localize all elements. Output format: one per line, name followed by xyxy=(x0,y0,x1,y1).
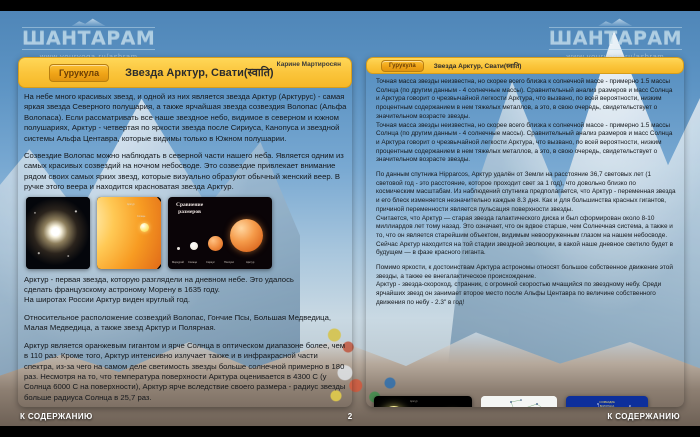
paragraph: Точная масса звезды неизвестна, но скоре… xyxy=(366,122,684,166)
mountain-icon xyxy=(598,18,632,26)
gurukula-button-right[interactable]: Гурукула xyxy=(381,60,424,72)
figure-caption: Относительное расположение созвездий Вол… xyxy=(18,313,352,334)
scale-diagram-canvas: Арктур Солнце xyxy=(97,197,161,269)
sky-chart-svg xyxy=(481,396,557,407)
left-figure-row: Арктур Солнце Сравнение размеров Меркури… xyxy=(18,193,352,269)
arcturus-disc xyxy=(97,197,161,269)
spacer xyxy=(18,306,352,313)
comparison-label-3: Сириус xyxy=(206,261,215,264)
logo-left-wordmark: ШАНТАРАМ xyxy=(22,27,155,50)
caption-line: На широтах России Арктур виден круглый г… xyxy=(18,295,352,305)
table-of-contents-link-left[interactable]: К СОДЕРЖАНИЮ xyxy=(20,412,93,421)
paragraph: Арктур - звезда-скороход, странник, с ог… xyxy=(366,281,684,307)
paragraph: По данным спутника Hipparcos, Арктур уда… xyxy=(366,171,684,215)
comparison-label-5: Арктур xyxy=(246,261,254,264)
paragraph: Считается, что Арктур — старая звезда га… xyxy=(366,215,684,259)
comparison-orb-2 xyxy=(190,242,198,250)
letterbox-bottom xyxy=(0,426,700,437)
paragraph: На небе много красивых звезд, и одной из… xyxy=(18,92,352,144)
paragraph: Арктур является оранжевым гигантом и ярч… xyxy=(18,341,352,403)
left-panel-body: На небе много красивых звезд, и одной из… xyxy=(18,88,352,403)
caption-line: сделать французскому астроному Морену в … xyxy=(18,285,352,295)
comparison-orb-3 xyxy=(208,236,223,251)
figure-size-comparison: Сравнение размеров Меркурий Солнце Сириу… xyxy=(168,197,272,269)
letterbox-top xyxy=(0,0,700,11)
figure-twin-stars: Арктур Солнце xyxy=(374,396,472,407)
twin-label-left: Арктур xyxy=(410,400,418,403)
right-panel-title: Звезда Арктур, Свати(स्वाति) xyxy=(434,61,522,70)
comparison-orb-1 xyxy=(177,247,180,250)
comparison-label-4: Поллукс xyxy=(224,261,234,264)
paragraph: Точная масса звезды неизвестна, но скоре… xyxy=(366,78,684,122)
mountain-icon xyxy=(72,18,106,26)
page-number: 2 xyxy=(348,412,352,421)
scale-label-small: Солнце xyxy=(137,215,145,218)
gurukula-button-left[interactable]: Гурукула xyxy=(49,64,109,82)
left-panel-header: Гурукула Звезда Арктур, Свати(स्वाति) Ка… xyxy=(18,57,352,88)
comparison-label-1: Меркурий xyxy=(172,261,184,264)
sun-disc xyxy=(140,223,149,232)
star-glow-icon xyxy=(26,197,90,269)
logo-right: ШАНТАРАМ www.youryoga.ru/ashram xyxy=(549,18,682,61)
figure-arcturus-photo xyxy=(26,197,90,269)
slide-panel-right: Гурукула Звезда Арктур, Свати(स्वाति) То… xyxy=(366,57,684,407)
paragraph: Помимо яркости, к достоинствам Арктура а… xyxy=(366,264,684,281)
star-disc-large xyxy=(382,406,406,407)
caption-line: Арктур - первая звезда, которую разгляде… xyxy=(18,275,352,285)
table-of-contents-link-right[interactable]: К СОДЕРЖАНИЮ xyxy=(607,412,680,421)
right-figure-row: Арктур Солнце xyxy=(366,396,648,407)
size-comparison-title-line1: Сравнение xyxy=(176,202,203,208)
right-panel-body: Точная масса звезды неизвестна, но скоре… xyxy=(366,74,684,308)
left-panel-title: Звезда Арктур, Свати(स्वाति) xyxy=(125,65,273,80)
spacer xyxy=(18,334,352,341)
logo-right-wordmark: ШАНТАРАМ xyxy=(549,27,682,50)
figure-constellation-map: СОЗВЕЗДИЕ ВОЛОПАСА xyxy=(566,396,648,407)
comparison-orb-4 xyxy=(230,219,263,252)
comparison-label-2: Солнце xyxy=(188,261,197,264)
right-panel-header: Гурукула Звезда Арктур, Свати(स्वाति) xyxy=(366,57,684,74)
scale-label-big: Арктур xyxy=(127,203,135,206)
spacer xyxy=(18,144,352,151)
slide-stage: ШАНТАРАМ www.youryoga.ru/ashram ШАНТАРАМ… xyxy=(0,0,700,437)
figure-sky-chart xyxy=(481,396,557,407)
author-name: Карине Мартиросян xyxy=(277,61,341,68)
paragraph: Созвездие Волопас можно наблюдать в севе… xyxy=(18,151,352,193)
figure-scale-diagram: Арктур Солнце xyxy=(97,197,161,269)
logo-left: ШАНТАРАМ www.youryoga.ru/ashram xyxy=(22,18,155,61)
constellation-map-svg xyxy=(566,396,648,407)
size-comparison-title-line2: размеров xyxy=(178,209,201,215)
size-comparison-title: Сравнение размеров xyxy=(176,202,203,216)
slide-panel-left: Гурукула Звезда Арктур, Свати(स्वाति) Ка… xyxy=(18,57,352,407)
